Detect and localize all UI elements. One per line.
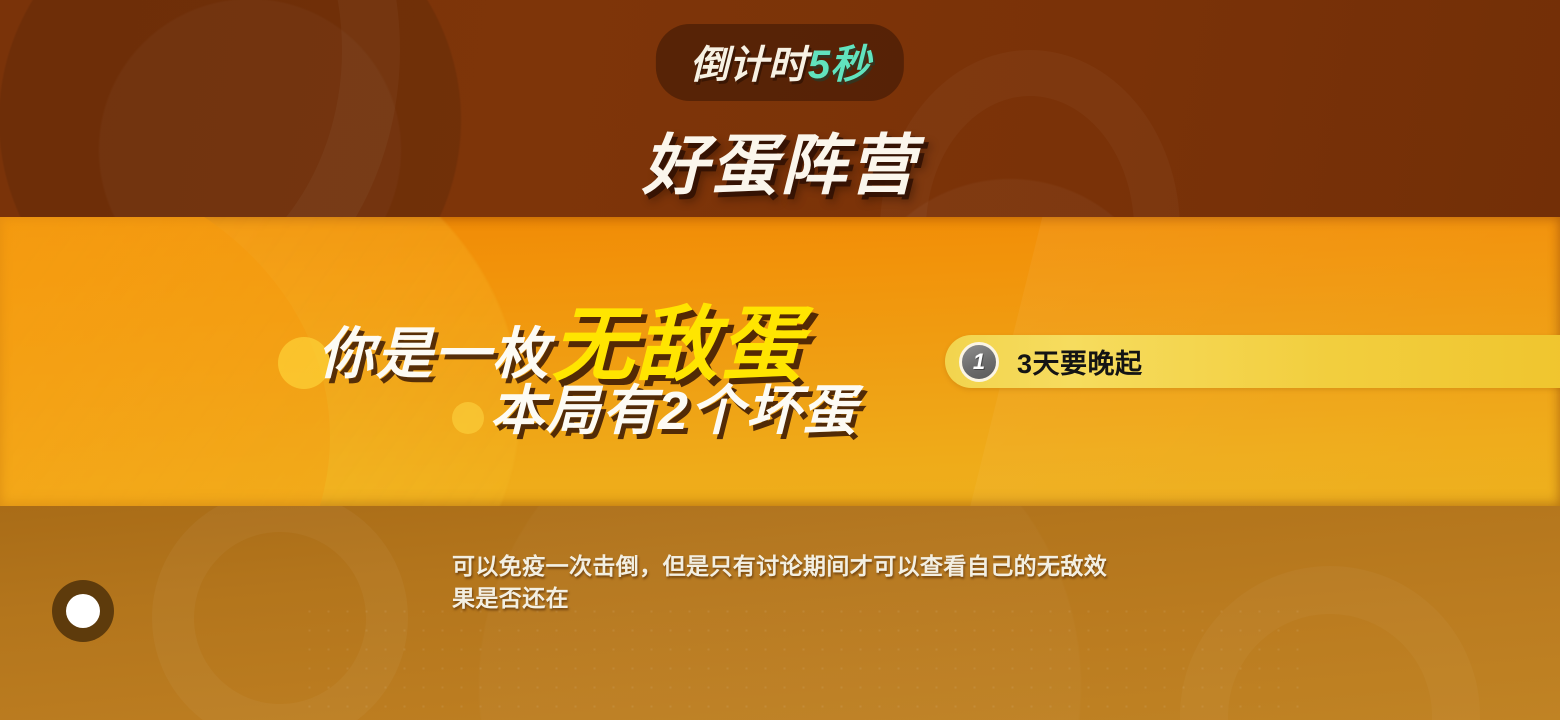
countdown-badge: 倒计时 5秒 (656, 24, 904, 101)
player-list-item[interactable]: 1 3天要晚起 (945, 335, 1560, 388)
avatar (52, 580, 114, 642)
bad-egg-counter-text: 本局有2个坏蛋 (490, 366, 858, 445)
decorative-ring-icon (880, 50, 1180, 217)
decorative-ring-icon (0, 0, 400, 217)
player-name-label: 3天要晚起 (1017, 342, 1143, 381)
countdown-value: 5秒 (808, 32, 870, 90)
role-description-text: 可以免疫一次击倒，但是只有讨论期间才可以查看自己的无敌效果是否还在 (452, 550, 1112, 614)
decorative-dot-pattern (300, 602, 1300, 720)
faction-title: 好蛋阵营 (642, 112, 918, 208)
player-number-badge: 1 (959, 342, 999, 382)
countdown-label: 倒计时 (690, 34, 807, 90)
decorative-dot-icon (452, 402, 484, 434)
header-area: 倒计时 5秒 好蛋阵营 (0, 0, 1560, 217)
game-role-reveal-screen: 倒计时 5秒 好蛋阵营 你是一枚无敌蛋 本局有2个坏蛋 1 3天要晚起 可以免疫… (0, 0, 1560, 720)
